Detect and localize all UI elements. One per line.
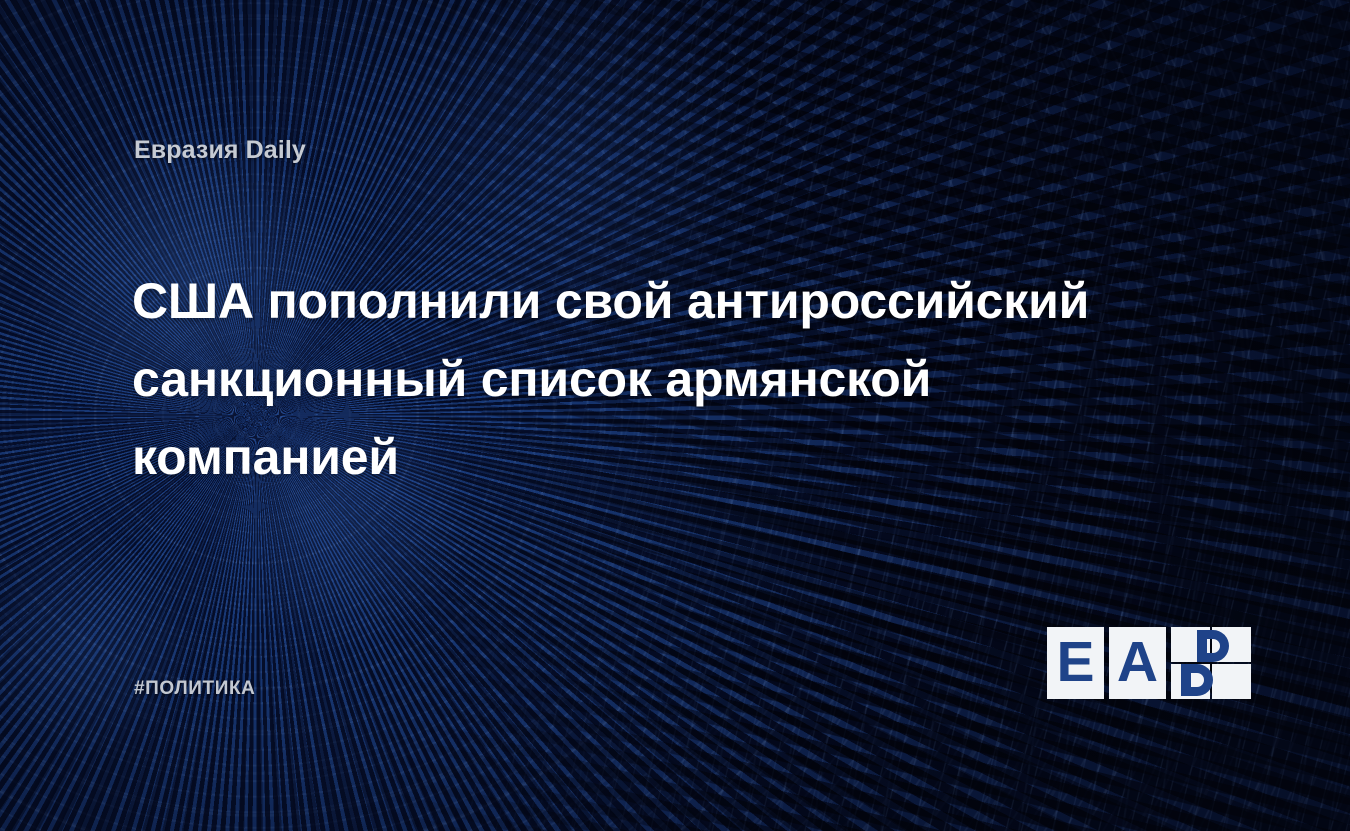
category-tag[interactable]: #ПОЛИТИКА <box>134 678 256 700</box>
headline: США пополнили свой антироссийский санкци… <box>132 262 1202 496</box>
logo-letter-e: E <box>1056 634 1094 691</box>
logo-d-glyph <box>1171 627 1251 699</box>
logo-tile-d <box>1171 627 1251 699</box>
eadaily-logo[interactable]: E A <box>1047 627 1251 699</box>
logo-tile-a: A <box>1109 627 1166 699</box>
news-card: Евразия Daily США пополнили свой антирос… <box>0 0 1350 831</box>
logo-tile-e: E <box>1047 627 1104 699</box>
logo-letter-a: A <box>1117 634 1158 691</box>
card-content: Евразия Daily США пополнили свой антирос… <box>0 0 1350 831</box>
brand-label: Евразия Daily <box>134 136 306 165</box>
